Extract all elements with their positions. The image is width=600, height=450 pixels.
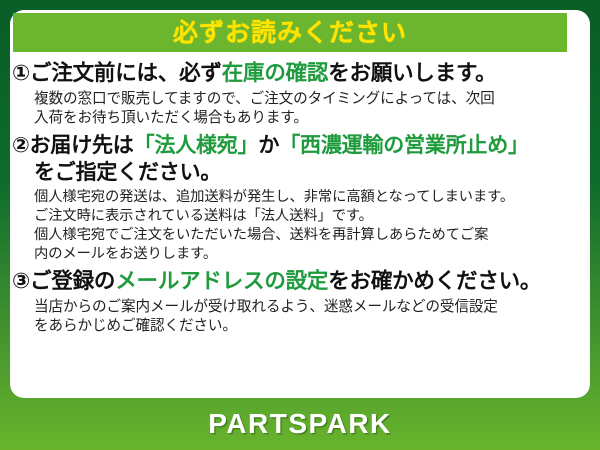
notice-item-1: ①ご注文前には、必ず在庫の確認をお願いします。 複数の窓口で販売してますので、ご… — [12, 60, 570, 128]
item-2-emphasis-1: 「法人様宛」 — [134, 133, 259, 157]
notice-item-3-subtext: 当店からのご案内メールが受け取れるよう、迷惑メールなどの受信設定 をあらかじめご… — [12, 297, 570, 336]
notice-item-2-headline-line2: をご指定ください。 — [12, 159, 570, 186]
item-1-text-b: をお願いします。 — [328, 61, 496, 86]
item-3-sub-line-2: をあらかじめご確認ください。 — [34, 316, 570, 336]
item-3-sub-line-1: 当店からのご案内メールが受け取れるよう、迷惑メールなどの受信設定 — [34, 297, 570, 317]
item-1-sub-line-1: 複数の窓口で販売してますので、ご注文のタイミングによっては、次回 — [34, 89, 570, 109]
header-title: 必ずお読みください — [173, 20, 407, 45]
item-2-emphasis-2: 「西濃運輸の営業所止め」 — [279, 133, 529, 157]
notice-item-1-subtext: 複数の窓口で販売してますので、ご注文のタイミングによっては、次回 入荷をお待ち頂… — [12, 89, 570, 128]
item-3-text-b: をお確かめください。 — [328, 269, 541, 294]
item-3-emphasis: メールアドレスの設定 — [115, 269, 328, 294]
item-1-marker: ① — [12, 61, 30, 86]
notice-item-2-subtext: 個人様宅宛の発送は、追加送料が発生し、非常に高額となってしまいます。 ご注文時に… — [12, 188, 570, 264]
item-1-sub-line-2: 入荷をお待ち頂いただく場合もあります。 — [34, 108, 570, 128]
footer-brand-bar: PARTSPARK — [0, 398, 600, 450]
notice-item-1-headline: ①ご注文前には、必ず在庫の確認をお願いします。 — [12, 60, 570, 88]
item-2-sub-line-3: 個人様宅宛でご注文をいただいた場合、送料を再計算しあらためてご案 — [34, 226, 570, 245]
item-2-marker: ② — [12, 133, 30, 157]
notice-item-2-headline: ②お届け先は「法人様宛」か「西濃運輸の営業所止め」 — [12, 132, 570, 159]
item-1-emphasis: 在庫の確認 — [222, 61, 329, 86]
notice-item-3: ③ご登録のメールアドレスの設定をお確かめください。 当店からのご案内メールが受け… — [12, 268, 570, 336]
item-2-sub-line-2: ご注文時に表示されている送料は「法人送料」です。 — [34, 207, 570, 226]
item-2-text-b: か — [258, 133, 279, 157]
notice-item-2: ②お届け先は「法人様宛」か「西濃運輸の営業所止め」 をご指定ください。 個人様宅… — [12, 132, 570, 264]
brand-name: PARTSPARK — [208, 408, 392, 440]
header-banner: 必ずお読みください — [13, 13, 567, 52]
notice-poster: 必ずお読みください ①ご注文前には、必ず在庫の確認をお願いします。 複数の窓口で… — [0, 0, 600, 450]
item-2-sub-line-1: 個人様宅宛の発送は、追加送料が発生し、非常に高額となってしまいます。 — [34, 188, 570, 207]
item-2-sub-line-4: 内のメールをお送りします。 — [34, 245, 570, 264]
item-1-text-a: ご注文前には、必ず — [30, 61, 222, 86]
item-3-text-a: ご登録の — [30, 269, 115, 294]
item-3-marker: ③ — [12, 269, 30, 294]
notice-item-3-headline: ③ご登録のメールアドレスの設定をお確かめください。 — [12, 268, 570, 296]
item-2-text-a: お届け先は — [30, 133, 134, 157]
notice-content: ①ご注文前には、必ず在庫の確認をお願いします。 複数の窓口で販売してますので、ご… — [0, 56, 580, 340]
